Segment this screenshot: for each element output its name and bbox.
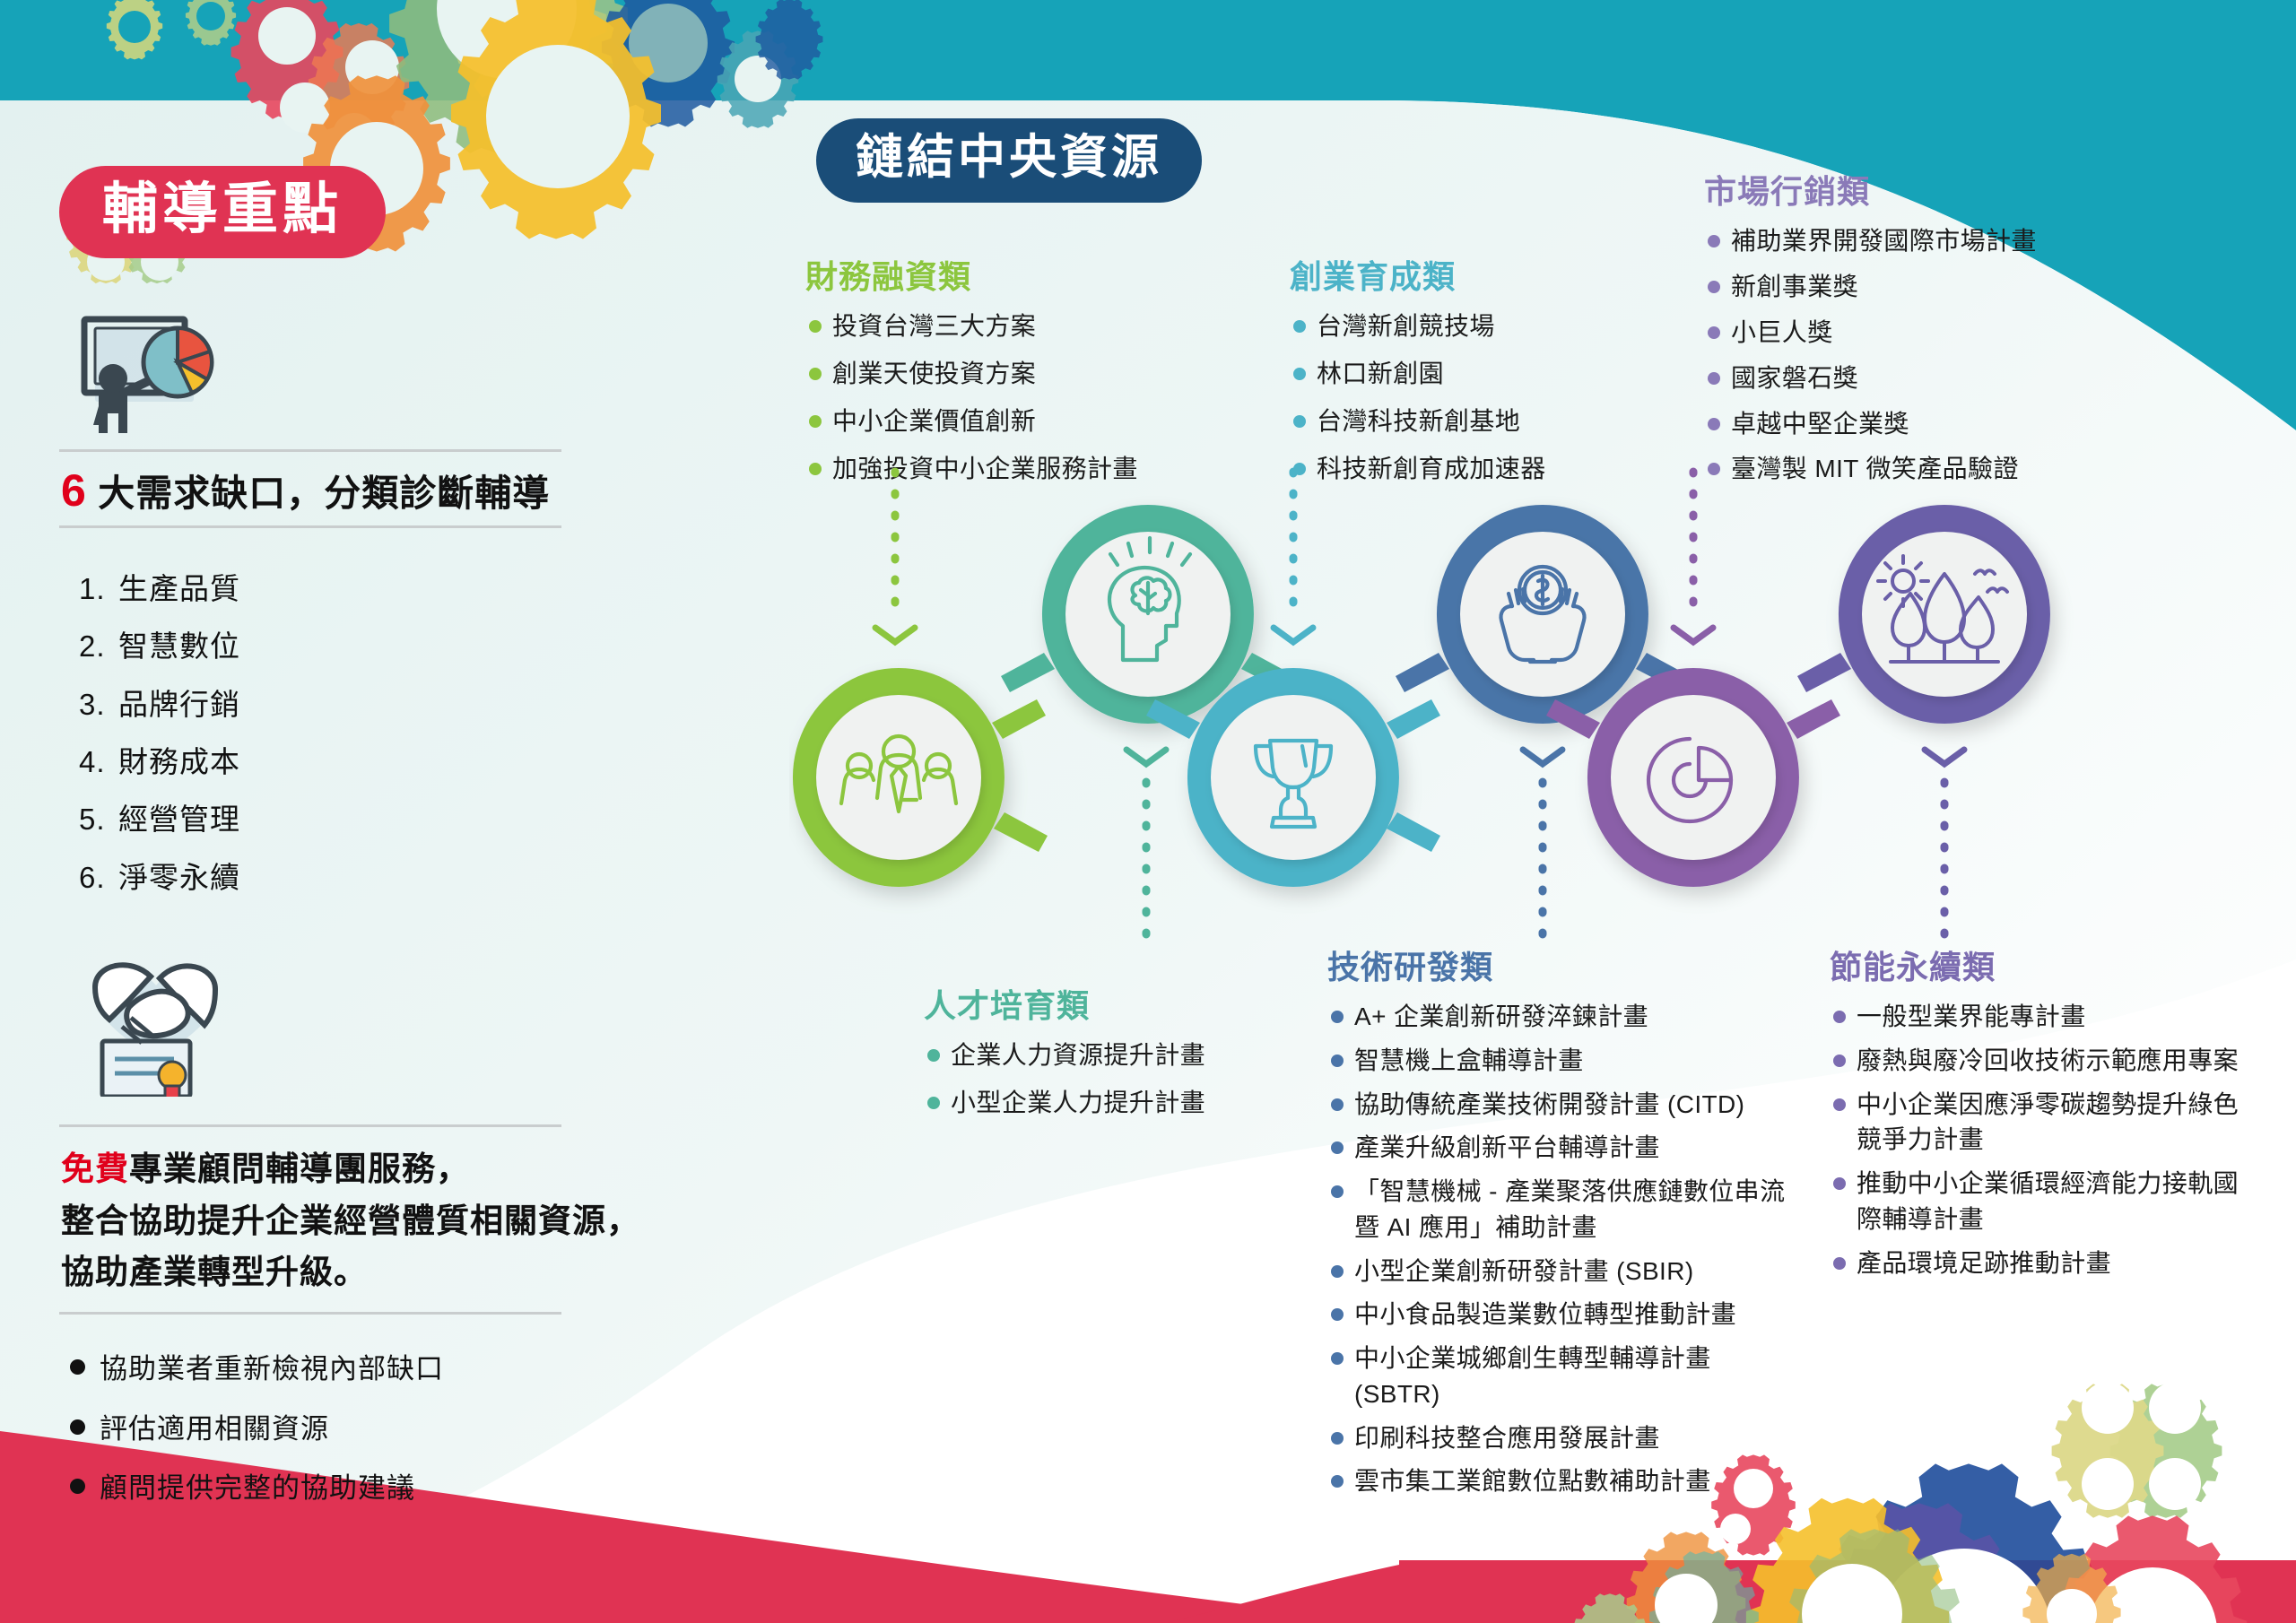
category-item-list: 一般型業界能專計畫 廢熱與廢冷回收技術示範應用專案 中小企業因應淨零碳趨勢提升綠… — [1830, 999, 2251, 1280]
presentation-pie-chart-icon — [79, 310, 777, 449]
chain-node-green — [793, 668, 1048, 887]
service-bullets: 協助業者重新檢視內部缺口 評估適用相關資源 顧問提供完整的協助建議 — [70, 1340, 777, 1519]
list-item: 國家磐石獎 — [1704, 360, 2117, 397]
list-label: 經營管理 — [118, 803, 240, 836]
category-title: 人才培育類 — [924, 980, 1265, 1027]
list-item: 2.智慧數位 — [79, 618, 777, 675]
list-item: 新創事業獎 — [1704, 269, 2117, 306]
list-index: 2. — [79, 618, 118, 675]
list-item: 中小企業城鄉創生轉型輔導計畫 (SBTR) — [1327, 1341, 1794, 1412]
category-rnd: 技術研發類 A+ 企業創新研發淬鍊計畫 智慧機上盒輔導計畫 協助傳統產業技術開發… — [1327, 942, 1794, 1507]
list-label: 協助業者重新檢視內部缺口 — [100, 1353, 444, 1384]
bullet-dot-icon — [70, 1419, 85, 1435]
category-item-list: 企業人力資源提升計畫 小型企業人力提升計畫 — [924, 1037, 1265, 1122]
list-item: 5.經營管理 — [79, 791, 777, 848]
chain-node-indigo — [1797, 505, 2050, 724]
list-index: 5. — [79, 791, 118, 848]
list-item: 產業升級創新平台輔導計畫 — [1327, 1130, 1794, 1166]
need-gap-list: 1.生產品質 2.智慧數位 3.品牌行銷 4.財務成本 5.經營管理 6.淨零永… — [79, 560, 777, 907]
free-service-block: 免費專業顧問輔導團服務， 整合協助提升企業經營體質相關資源， 協助產業轉型升級。 — [59, 1124, 777, 1315]
list-label: 財務成本 — [118, 745, 240, 778]
bullet-dot-icon — [70, 1479, 85, 1494]
list-item: 小型企業創新研發計畫 (SBIR) — [1327, 1254, 1794, 1289]
list-item: 創業天使投資方案 — [805, 356, 1182, 393]
list-item: 協助傳統產業技術開發計畫 (CITD) — [1327, 1087, 1794, 1123]
bullet-dot-icon — [70, 1359, 85, 1375]
list-item: 評估適用相關資源 — [70, 1400, 777, 1460]
category-item-list: A+ 企業創新研發淬鍊計畫 智慧機上盒輔導計畫 協助傳統產業技術開發計畫 (CI… — [1327, 999, 1794, 1499]
category-esg: 節能永續類 一般型業界能專計畫 廢熱與廢冷回收技術示範應用專案 中小企業因應淨零… — [1830, 942, 2251, 1289]
infographic-canvas: 輔導重點 6 — [0, 0, 2296, 1623]
central-resources-pill-title: 鏈結中央資源 — [816, 118, 1202, 203]
list-label: 淨零永續 — [118, 861, 240, 894]
category-item-list: 補助業界開發國際市場計畫 新創事業獎 小巨人獎 國家磐石獎 卓越中堅企業獎 臺灣… — [1704, 223, 2117, 488]
list-index: 3. — [79, 676, 118, 733]
list-item: 小巨人獎 — [1704, 315, 2117, 352]
list-item: 3.品牌行銷 — [79, 676, 777, 733]
free-line1: 專業顧問輔導團服務， — [129, 1150, 470, 1187]
left-panel: 輔導重點 6 — [59, 166, 777, 1519]
list-item: 企業人力資源提升計畫 — [924, 1037, 1265, 1074]
list-item: 補助業界開發國際市場計畫 — [1704, 223, 2117, 260]
list-item: 廢熱與廢冷回收技術示範應用專案 — [1830, 1043, 2251, 1079]
free-service-text: 免費專業顧問輔導團服務， 整合協助提升企業經營體質相關資源， 協助產業轉型升級。 — [59, 1127, 777, 1312]
list-item: 雲市集工業館數位點數補助計畫 — [1327, 1463, 1794, 1499]
list-label: 品牌行銷 — [118, 688, 240, 721]
list-item: 一般型業界能專計畫 — [1830, 999, 2251, 1035]
list-item: 「智慧機械 - 產業聚落供應鏈數位串流暨 AI 應用」補助計畫 — [1327, 1174, 1794, 1245]
list-item: 協助業者重新檢視內部缺口 — [70, 1340, 777, 1400]
list-item: 產品環境足跡推動計畫 — [1830, 1245, 2251, 1281]
list-item: 4.財務成本 — [79, 733, 777, 791]
list-label: 評估適用相關資源 — [100, 1413, 329, 1445]
category-startup: 創業育成類 台灣新創競技場 林口新創園 台灣科技新創基地 科技新創育成加速器 — [1290, 251, 1648, 499]
guidance-focus-pill-title: 輔導重點 — [59, 166, 386, 258]
list-item: 台灣新創競技場 — [1290, 308, 1648, 345]
divider-bottom — [59, 525, 561, 528]
divider-free-bottom — [59, 1312, 561, 1315]
list-item: 小型企業人力提升計畫 — [924, 1085, 1265, 1122]
category-item-list: 投資台灣三大方案 創業天使投資方案 中小企業價值創新 加強投資中小企業服務計畫 — [805, 308, 1182, 488]
handshake-certificate-icon — [79, 953, 777, 1101]
category-finance: 財務融資類 投資台灣三大方案 創業天使投資方案 中小企業價值創新 加強投資中小企… — [805, 251, 1182, 499]
list-label: 生產品質 — [118, 572, 240, 605]
list-item: A+ 企業創新研發淬鍊計畫 — [1327, 999, 1794, 1035]
list-index: 6. — [79, 849, 118, 907]
category-item-list: 台灣新創競技場 林口新創園 台灣科技新創基地 科技新創育成加速器 — [1290, 308, 1648, 488]
list-label: 顧問提供完整的協助建議 — [100, 1472, 415, 1504]
six-gaps-text: 大需求缺口，分類診斷輔導 — [98, 473, 550, 514]
list-index: 4. — [79, 733, 118, 791]
free-highlight: 免費 — [61, 1150, 129, 1187]
list-item: 6.淨零永續 — [79, 849, 777, 907]
six-gaps-heading: 6 大需求缺口，分類診斷輔導 — [59, 452, 777, 525]
list-item: 印刷科技整合應用發展計畫 — [1327, 1420, 1794, 1456]
category-title: 市場行銷類 — [1704, 166, 2117, 213]
list-item: 智慧機上盒輔導計畫 — [1327, 1043, 1794, 1079]
list-item: 林口新創園 — [1290, 356, 1648, 393]
category-marketing: 市場行銷類 補助業界開發國際市場計畫 新創事業獎 小巨人獎 國家磐石獎 卓越中堅… — [1704, 166, 2117, 497]
list-item: 卓越中堅企業獎 — [1704, 406, 2117, 443]
list-item: 1.生產品質 — [79, 560, 777, 618]
category-title: 創業育成類 — [1290, 251, 1648, 298]
list-item: 推動中小企業循環經濟能力接軌國際輔導計畫 — [1830, 1166, 2251, 1237]
list-item: 中小食品製造業數位轉型推動計畫 — [1327, 1297, 1794, 1332]
free-line3: 協助產業轉型升級。 — [61, 1254, 368, 1290]
list-item: 台灣科技新創基地 — [1290, 404, 1648, 440]
list-label: 智慧數位 — [118, 629, 240, 663]
resource-chain-diagram — [789, 466, 2278, 950]
category-title: 財務融資類 — [805, 251, 1182, 298]
free-line2: 整合協助提升企業經營體質相關資源， — [61, 1202, 640, 1239]
list-index: 1. — [79, 560, 118, 618]
category-talent: 人才培育類 企業人力資源提升計畫 小型企業人力提升計畫 — [924, 980, 1265, 1133]
list-item: 顧問提供完整的協助建議 — [70, 1459, 777, 1519]
six-gaps-number: 6 — [61, 465, 87, 516]
list-item: 中小企業因應淨零碳趨勢提升綠色競爭力計畫 — [1830, 1087, 2251, 1159]
list-item: 投資台灣三大方案 — [805, 308, 1182, 345]
list-item: 中小企業價值創新 — [805, 404, 1182, 440]
